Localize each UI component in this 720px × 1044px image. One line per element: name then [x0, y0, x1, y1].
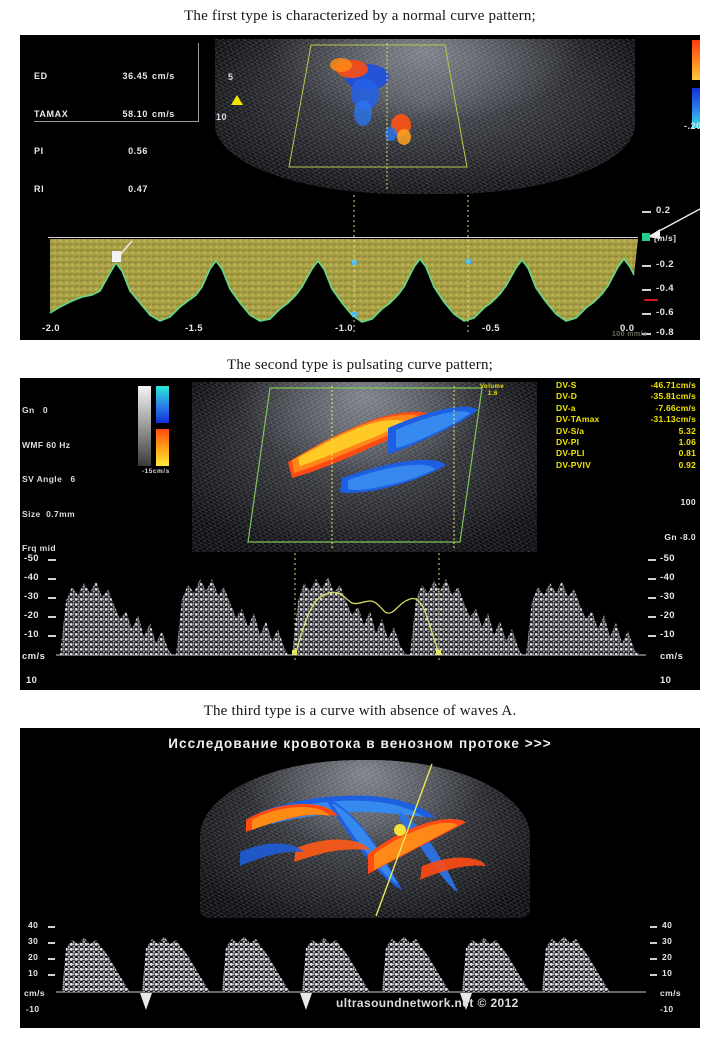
measurement-row: RI0.47 [34, 183, 178, 196]
baseline-label-right: cm/s [660, 988, 681, 998]
y-label-4: -0.8 [656, 327, 674, 338]
y-tick [648, 635, 656, 637]
dv-row: DV-PLI0.81 [556, 448, 696, 459]
y-tick [650, 942, 657, 944]
y-label-below-right: 10 [660, 675, 671, 686]
readout-divider [198, 43, 199, 121]
bmode-sector-panel-two [192, 382, 537, 552]
x-label-0: -2.0 [42, 323, 60, 334]
dv-row: DV-TAmax-31.13cm/s [556, 414, 696, 425]
measurement-row: PI0.56 [34, 145, 178, 158]
baseline-label-left: cm/s [24, 988, 45, 998]
y-label-0: 0.2 [656, 205, 670, 216]
setting-line: 100 [556, 497, 696, 509]
x-label-1: -1.5 [185, 323, 203, 334]
watermark: ultrasoundnetwork.net © 2012 [336, 996, 519, 1010]
y-label-3: 10 [28, 968, 38, 978]
depth-marker-5: 5 [228, 72, 234, 82]
colorbar-scale-label: -.20 [684, 121, 700, 131]
y-tick [48, 942, 55, 944]
sweep-speed-label: 100 mm/s [612, 331, 647, 338]
color-flow-overlay-panel-two [192, 382, 537, 552]
y-label-1: 30 [28, 936, 38, 946]
y-label-4-right: -10 [660, 629, 675, 640]
volume-value: 1.6 [488, 391, 498, 397]
spectral-doppler-panel-two: -50 -40 -30 -20 -10 cm/s 10 -50 -40 -30 … [20, 553, 700, 690]
y-tick [48, 926, 55, 928]
y-tick [650, 974, 657, 976]
y-tick [642, 313, 651, 315]
readout-underline [34, 121, 199, 122]
spectral-waveform-panel-three [20, 918, 700, 1028]
y-tick [648, 616, 656, 618]
y-label-1-right: -40 [660, 572, 675, 583]
measurement-row: ED36.45cm/s [34, 70, 178, 83]
ultrasound-panel-normal-curve: ED36.45cm/s TAMAX58.10cm/s PI0.56 RI0.47… [20, 35, 700, 340]
y-label-0: 40 [28, 920, 38, 930]
volume-label: Volume [480, 384, 504, 390]
ultrasound-panel-absent-a-wave: Исследование кровотока в венозном проток… [20, 728, 700, 1028]
y-label-2-right: -30 [660, 591, 675, 602]
caption-second-type: The second type is pulsating curve patte… [0, 357, 720, 374]
y-tick [650, 958, 657, 960]
grayscale-bar-panel-two [138, 386, 151, 466]
x-label-2: -1.0 [335, 323, 353, 334]
y-label-3-right: -20 [660, 610, 675, 621]
spectral-waveform [20, 195, 700, 340]
ultrasound-panel-pulsating-curve: Gn 0 WMF 60 Hz SV Angle 6 Size 0.7mm Frq… [20, 378, 700, 690]
y-tick [642, 289, 651, 291]
y-label-below: -10 [26, 1004, 40, 1014]
y-label-below-right: -10 [660, 1004, 674, 1014]
baseline-label-right: cm/s [660, 651, 683, 662]
dv-row: DV-PVIV0.92 [556, 460, 696, 471]
spectral-doppler-panel-one: 0.2 -0.2 -0.4 -0.6 -0.8 [m/s] [20, 195, 700, 340]
spectral-doppler-panel-three: 40 30 20 10 cm/s -10 40 30 20 10 cm/s -1… [20, 918, 700, 1028]
y-label-below: 10 [26, 675, 37, 686]
y-label-3: -20 [24, 610, 39, 621]
setting-line: SV Angle 6 [22, 474, 76, 486]
colorbar-scale-label-panel-two: -15cm/s [142, 468, 170, 475]
y-tick [48, 974, 55, 976]
y-tick [48, 616, 56, 618]
y-tick [48, 958, 55, 960]
y-tick [648, 578, 656, 580]
dv-row: DV-S-46.71cm/s [556, 380, 696, 391]
y-tick [648, 597, 656, 599]
color-flow-overlay-panel-three [200, 760, 530, 920]
y-tick [642, 265, 651, 267]
dv-row: DV-S/a5.32 [556, 426, 696, 437]
y-label-1-right: 30 [662, 936, 672, 946]
bmode-sector-panel-one [215, 39, 635, 194]
y-label-3-right: 10 [662, 968, 672, 978]
color-doppler-bar-panel-two [156, 386, 169, 466]
bmode-sector-panel-three [200, 760, 530, 920]
setting-line: Gn -8.0 [556, 532, 696, 544]
x-label-3: -0.5 [482, 323, 500, 334]
y-tick [48, 559, 56, 561]
dv-row: DV-PI1.06 [556, 437, 696, 448]
setting-line: Size 0.7mm [22, 509, 76, 521]
setting-line: Gn 0 [22, 405, 76, 417]
y-tick [48, 578, 56, 580]
y-label-1: -40 [24, 572, 39, 583]
russian-title: Исследование кровотока в венозном проток… [20, 736, 700, 751]
y-tick [642, 211, 651, 213]
figure-page: The first type is characterized by a nor… [0, 0, 720, 1044]
dv-row: DV-D-35.81cm/s [556, 391, 696, 402]
spectral-waveform-panel-two [20, 553, 700, 690]
y-label-4: -10 [24, 629, 39, 640]
caption-third-type: The third type is a curve with absence o… [0, 703, 720, 720]
color-doppler-bar-panel-one [692, 40, 700, 128]
baseline-label-left: cm/s [22, 651, 45, 662]
focus-marker-icon [230, 93, 246, 107]
depth-marker-10: 10 [216, 112, 227, 122]
y-tick [648, 559, 656, 561]
y-label-2-right: 20 [662, 952, 672, 962]
y-label-2: 20 [28, 952, 38, 962]
y-label-0: -50 [24, 553, 39, 564]
y-label-0-right: -50 [660, 553, 675, 564]
y-label-1: -0.2 [656, 259, 674, 270]
setting-line: WMF 60 Hz [22, 440, 76, 452]
y-tick [48, 635, 56, 637]
color-box-outline [215, 39, 635, 194]
y-tick [650, 926, 657, 928]
measurement-row: TAMAX58.10cm/s [34, 108, 178, 121]
y-label-2: -30 [24, 591, 39, 602]
y-label-2: -0.4 [656, 283, 674, 294]
y-tick [48, 597, 56, 599]
y-label-0-right: 40 [662, 920, 672, 930]
caption-first-type: The first type is characterized by a nor… [0, 8, 720, 25]
velocity-unit-label: [m/s] [654, 233, 676, 243]
y-label-3: -0.6 [656, 307, 674, 318]
dv-measurement-panel: DV-S-46.71cm/s DV-D-35.81cm/s DV-a-7.66c… [556, 380, 696, 471]
dv-row: DV-a-7.66cm/s [556, 403, 696, 414]
